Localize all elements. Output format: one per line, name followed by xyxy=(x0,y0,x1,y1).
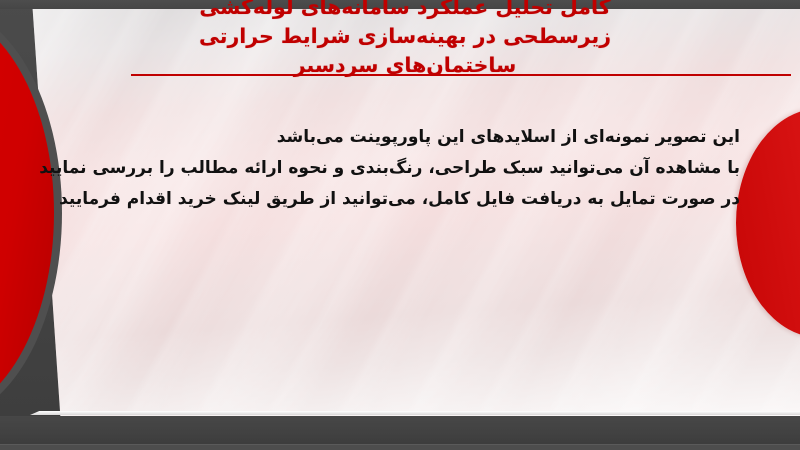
title-horizontal-rule xyxy=(131,74,791,76)
title-line-2: زیرسطحی در بهینه‌سازی شرایط حرارتی xyxy=(20,22,790,51)
title-line-1: کامل تحلیل عملکرد سامانه‌های لوله‌کشی xyxy=(20,0,790,22)
bottom-band-edge-line xyxy=(0,444,800,450)
slide-title: کامل تحلیل عملکرد سامانه‌های لوله‌کشی زی… xyxy=(20,0,790,80)
body-line-3: در صورت تمایل به دریافت فایل کامل، می‌تو… xyxy=(40,184,740,215)
body-line-1: این تصویر نمونه‌ای از اسلایدهای این پاور… xyxy=(40,122,740,153)
slide-body-text: این تصویر نمونه‌ای از اسلایدهای این پاور… xyxy=(40,122,740,215)
body-line-2: با مشاهده آن می‌توانید سبک طراحی، رنگ‌بن… xyxy=(40,153,740,184)
slide-canvas: کامل تحلیل عملکرد سامانه‌های لوله‌کشی زی… xyxy=(0,0,800,450)
panel-bottom-highlight xyxy=(30,411,800,415)
